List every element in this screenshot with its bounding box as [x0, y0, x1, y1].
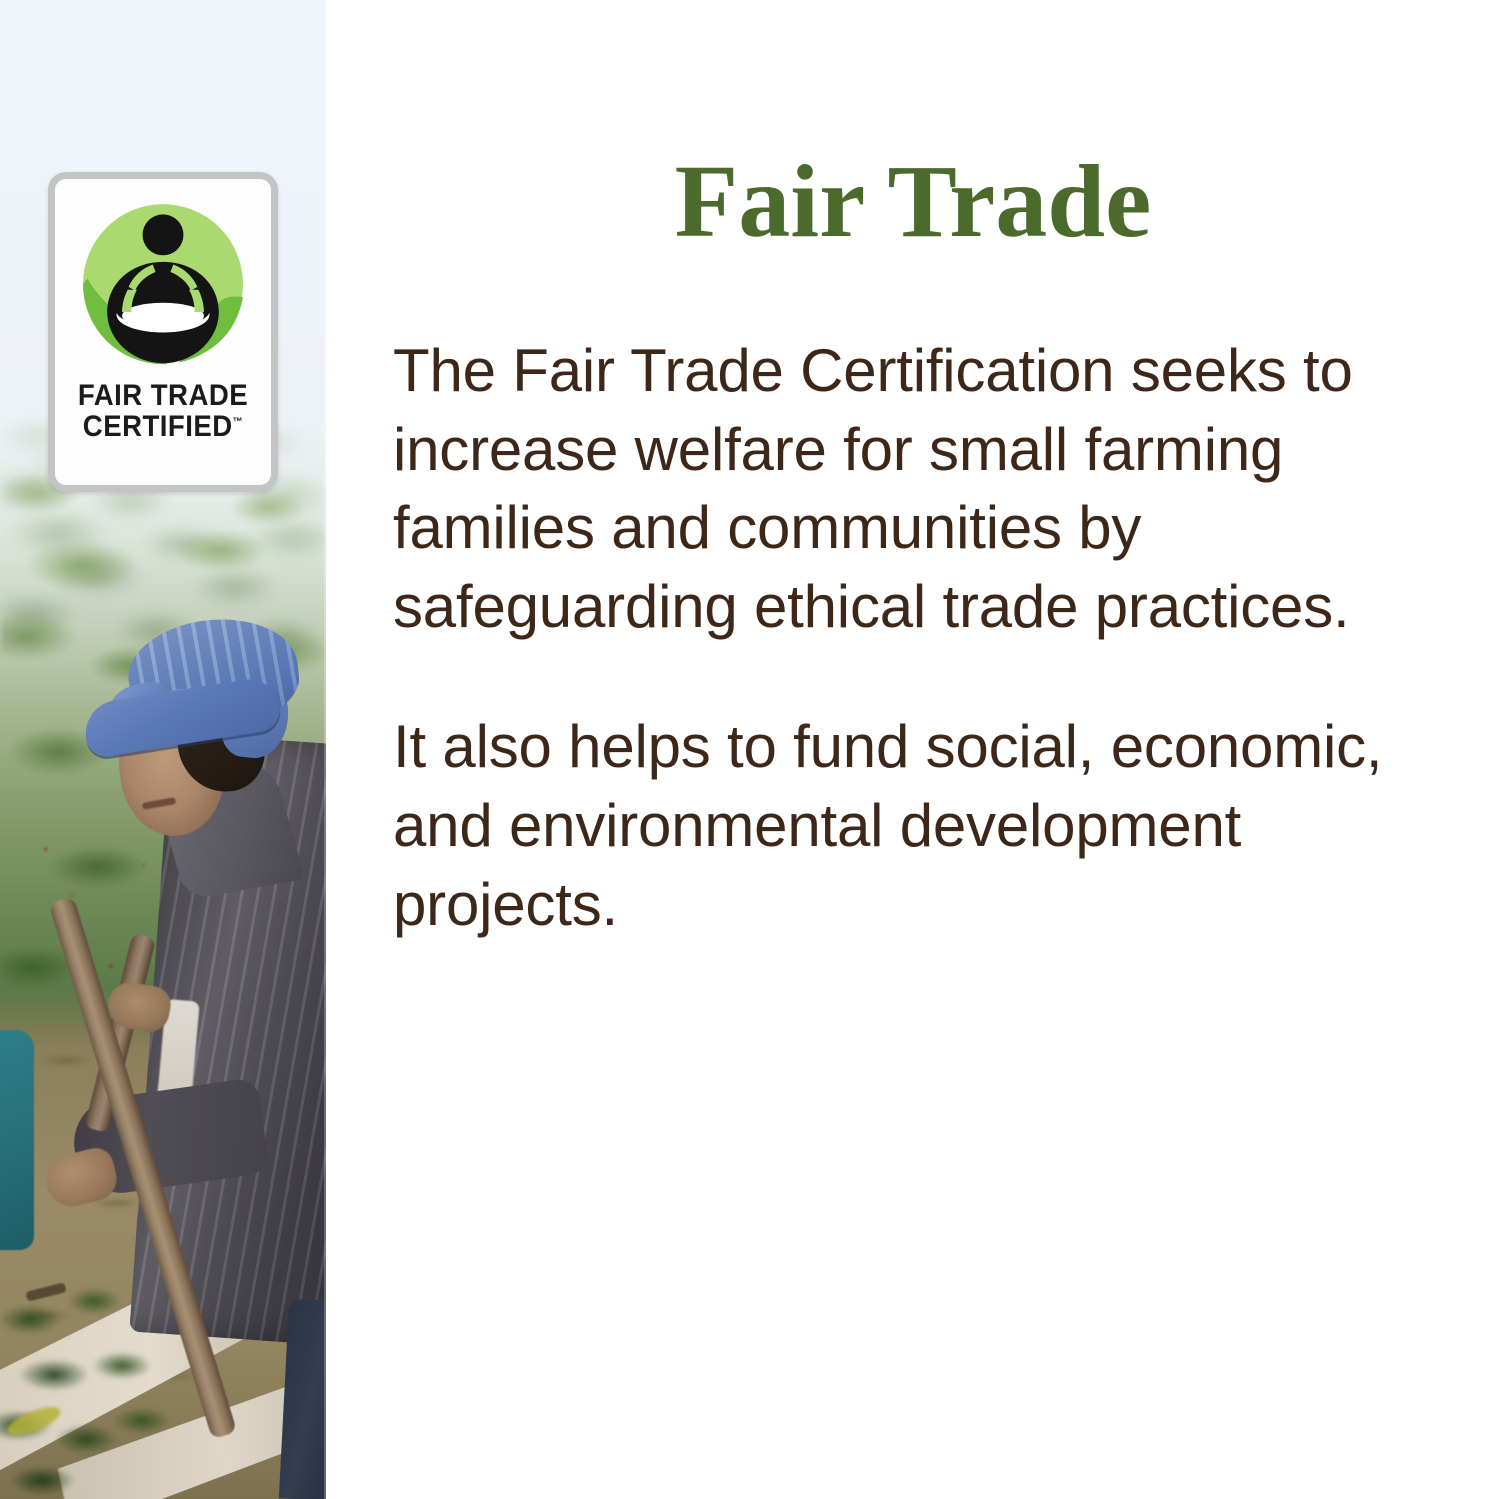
paragraph-1: The Fair Trade Certification seeks to in… [393, 332, 1430, 646]
fair-trade-infographic: FAIR TRADE CERTIFIED™ Fair Trade The Fai… [0, 0, 1500, 1499]
coffee-farm-worker-photo: FAIR TRADE CERTIFIED™ [0, 0, 326, 1499]
pole-rope-tie [25, 1282, 66, 1301]
page-title: Fair Trade [326, 0, 1500, 254]
logo-line-certified: CERTIFIED™ [64, 412, 263, 443]
trademark-symbol: ™ [233, 416, 244, 428]
content-panel: Fair Trade The Fair Trade Certification … [326, 0, 1500, 1499]
second-person-teal-sleeve [0, 1030, 34, 1250]
logo-line-fair-trade: FAIR TRADE [64, 381, 263, 412]
logo-wordmark: FAIR TRADE CERTIFIED™ [55, 381, 271, 442]
fair-trade-certified-logo: FAIR TRADE CERTIFIED™ [48, 172, 278, 492]
worker-lower-hand [41, 1144, 122, 1211]
logo-certified-text: CERTIFIED [83, 410, 233, 443]
body-text-block: The Fair Trade Certification seeks to in… [393, 332, 1430, 944]
paragraph-2: It also helps to fund social, economic, … [393, 708, 1430, 944]
fair-trade-logo-mark [70, 193, 256, 379]
